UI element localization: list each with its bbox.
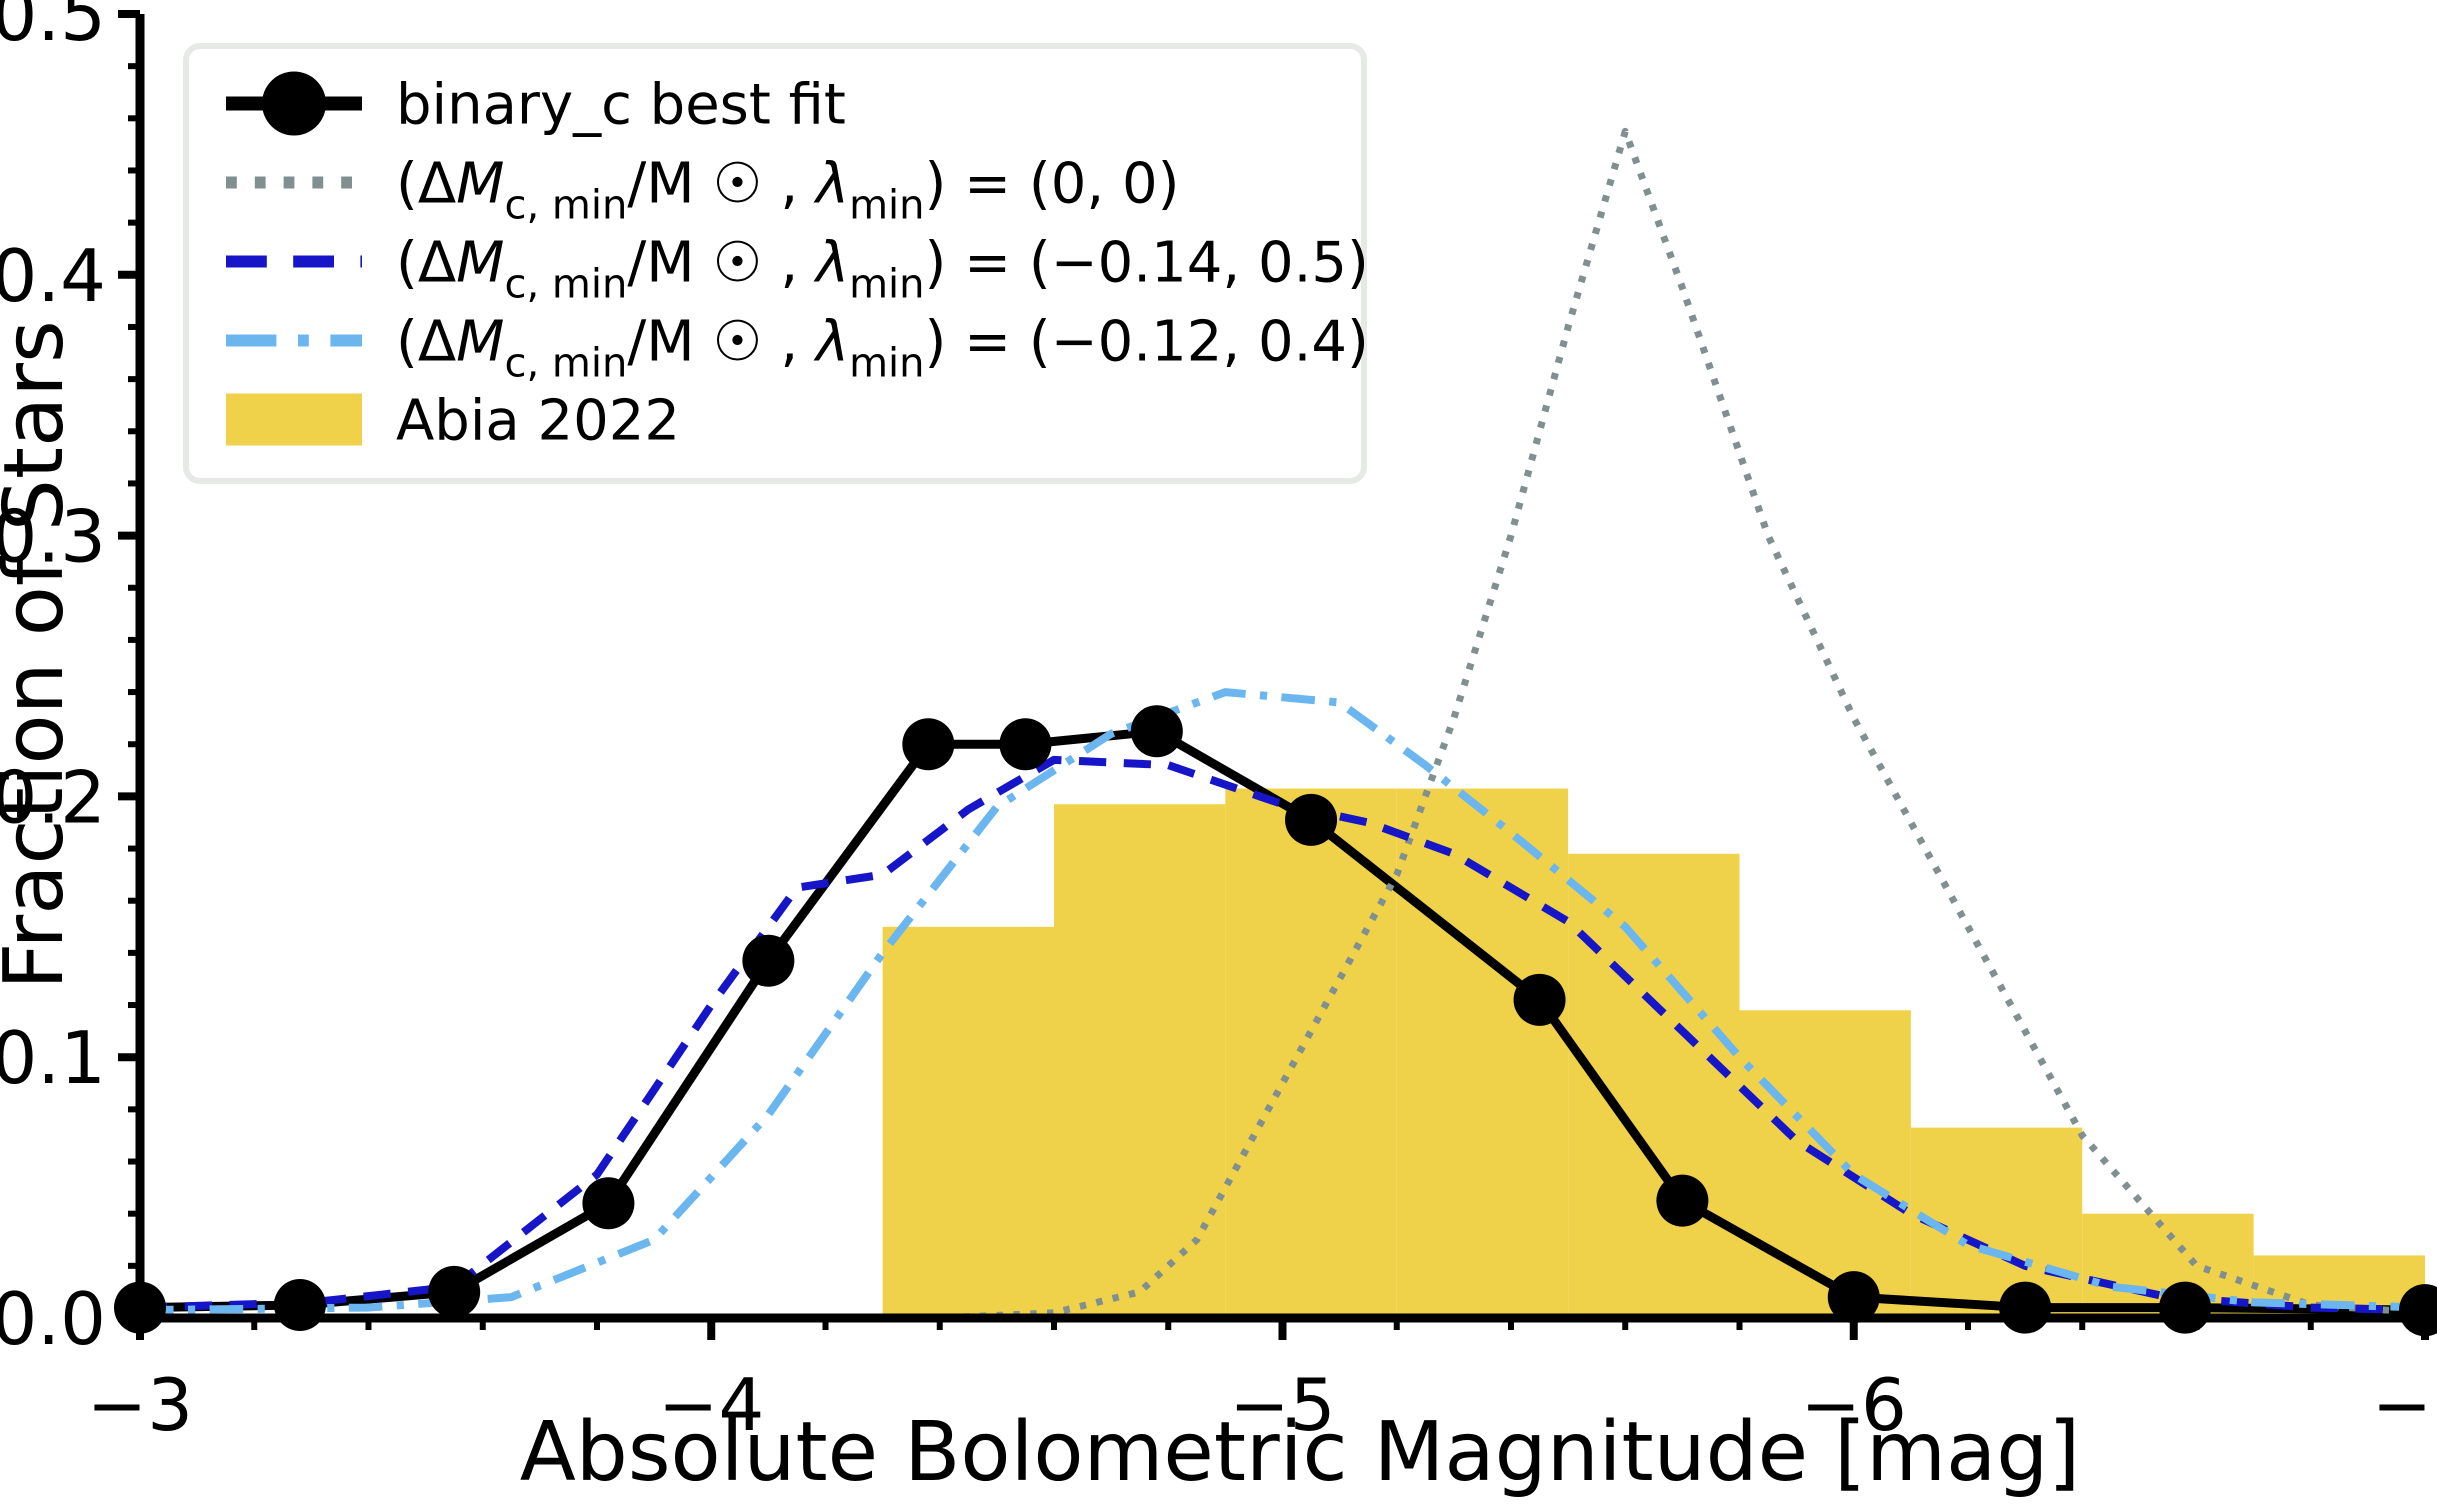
legend[interactable]: binary_c best fit(ΔMc, min/M ☉ , λmin) =… xyxy=(186,46,1369,481)
y-tick-label: 0.4 xyxy=(0,234,106,318)
chart-svg: −3−4−5−6−7 0.00.10.20.30.40.5 Absolute B… xyxy=(0,0,2437,1507)
histogram-bar xyxy=(1568,854,1739,1318)
data-point-marker xyxy=(1131,705,1183,757)
y-axis-title: Fraction of Stars xyxy=(0,320,82,989)
data-point-marker xyxy=(274,1279,326,1331)
x-tick-label: −3 xyxy=(87,1363,193,1447)
data-point-marker xyxy=(742,935,794,987)
legend-entry[interactable]: Abia 2022 xyxy=(226,389,680,454)
legend-color-patch xyxy=(226,394,362,446)
legend-label: binary_c best fit xyxy=(396,73,846,138)
data-point-marker xyxy=(999,718,1051,770)
histogram-bar xyxy=(1740,1010,1911,1318)
data-point-marker xyxy=(582,1177,634,1229)
x-axis-title: Absolute Bolometric Magnitude [mag] xyxy=(520,1405,2081,1500)
x-tick-label: −7 xyxy=(2372,1363,2437,1447)
histogram-bar xyxy=(883,927,1054,1318)
y-tick-label: 0.0 xyxy=(0,1277,106,1361)
data-point-marker xyxy=(1285,794,1337,846)
data-point-marker xyxy=(902,718,954,770)
data-point-marker xyxy=(1999,1282,2051,1334)
data-point-marker xyxy=(2159,1282,2211,1334)
legend-label: Abia 2022 xyxy=(396,389,680,454)
y-tick-label: 0.5 xyxy=(0,0,106,57)
figure-canvas: −3−4−5−6−7 0.00.10.20.30.40.5 Absolute B… xyxy=(0,0,2437,1507)
data-point-marker xyxy=(1514,974,1566,1026)
data-point-marker xyxy=(428,1266,480,1318)
data-point-marker xyxy=(1656,1175,1708,1227)
y-tick-label: 0.1 xyxy=(0,1016,106,1100)
legend-marker-sample xyxy=(262,72,326,136)
